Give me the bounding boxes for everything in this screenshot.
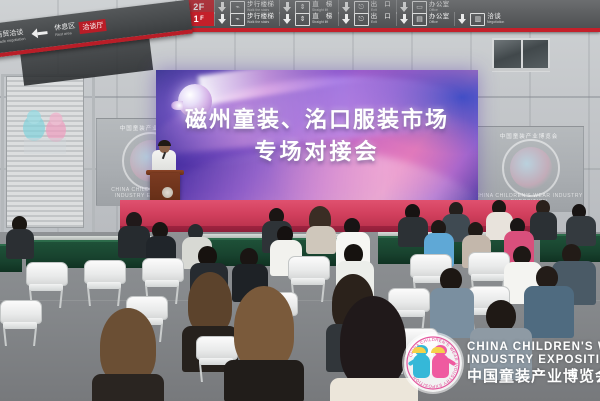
arrow-left-icon <box>31 27 48 39</box>
presenter-hair <box>158 140 171 146</box>
watermark-text-block: CHINA CHILDREN'S WEAR INDUSTRY EXPOSITIO… <box>467 341 600 386</box>
meeting-icon: ▥ <box>470 13 485 26</box>
door-mascot-graphic <box>14 108 76 160</box>
sign-en-exit: Exit <box>371 20 390 24</box>
angled-sign-left-text: 商贸洽谈 Trade negotiation <box>0 23 30 49</box>
exhibition-hall-photo: 中国童装产业博览会 CHINA CHILDREN'S WEAR INDUSTRY… <box>0 0 600 401</box>
led-stage-screen: 磁州童装、洺口服装市场 专场对接会 <box>156 70 478 206</box>
sign-en-office: Office <box>429 20 448 24</box>
led-title-block: 磁州童装、洺口服装市场 专场对接会 <box>156 106 478 170</box>
sign-item-exit: ⎋ 出 口 Exit <box>338 12 396 26</box>
expo-mascot-badge: CHINA CHILDREN'S WEAR INDUSTRY EXPOSITIO… <box>404 334 462 392</box>
floor-suffix: F <box>200 16 204 22</box>
arrow-down-icon <box>217 13 228 25</box>
arrow-down-icon <box>399 13 410 25</box>
expo-watermark: CHINA CHILDREN'S WEAR INDUSTRY EXPOSITIO… <box>404 330 596 396</box>
stairs-icon: ⌁ <box>230 13 245 26</box>
sign-item-stairs: ⌁ 步行楼梯 Walk the stairs <box>214 12 279 26</box>
exit-icon: ⎋ <box>354 13 369 26</box>
directory-sign: 2F ⌁ 步行楼梯 Walk the stairs ⇕ 直 梯 Straight… <box>184 0 600 32</box>
sign-en-lift: Straight lift <box>312 20 331 24</box>
wall-window <box>492 38 550 72</box>
podium-emblem <box>162 187 173 198</box>
chair <box>0 300 44 352</box>
mascot-blue-hat-icon <box>412 347 426 353</box>
floor-number: 1 <box>194 14 200 24</box>
watermark-cn-line: 中国童装产业博览会 <box>467 367 600 386</box>
office-icon: ▤ <box>412 13 427 26</box>
arrow-down-icon <box>282 13 293 25</box>
angled-sign-mid-text: 休息区 Rest area <box>49 17 80 42</box>
sign-item-lift: ⇕ 直 梯 Straight lift <box>279 12 337 26</box>
chair <box>84 260 124 306</box>
expo-ring-logo <box>502 139 560 197</box>
watermark-en-line1: CHINA CHILDREN'S WEAR <box>467 341 600 354</box>
window-sill <box>488 68 550 71</box>
mascot-pink-hat-icon <box>431 347 445 353</box>
angled-sign-right-cn: 洽谈厅 <box>79 19 107 34</box>
elevator-icon: ⇕ <box>295 13 310 26</box>
watermark-en-line2: INDUSTRY EXPOSITION <box>467 354 600 367</box>
sign-en-stairs: Walk the stairs <box>247 20 273 24</box>
sign-item-office: ▤ 办公室 Office <box>396 12 454 26</box>
sign-item-meeting: ▥ 洽谈 Negotiation <box>454 12 510 26</box>
arrow-down-icon <box>341 13 352 25</box>
directory-sign-lower-row: 1F ⌁ 步行楼梯 Walk the stairs ⇕ 直 梯 Straight… <box>184 12 600 26</box>
angled-sign-mid-en: Rest area <box>55 30 76 38</box>
sign-en-meeting: Negotiation <box>487 20 504 24</box>
led-title-line1: 磁州童装、洺口服装市场 <box>156 106 478 136</box>
led-title-line2: 专场对接会 <box>156 136 478 170</box>
arrow-down-icon <box>457 13 468 25</box>
